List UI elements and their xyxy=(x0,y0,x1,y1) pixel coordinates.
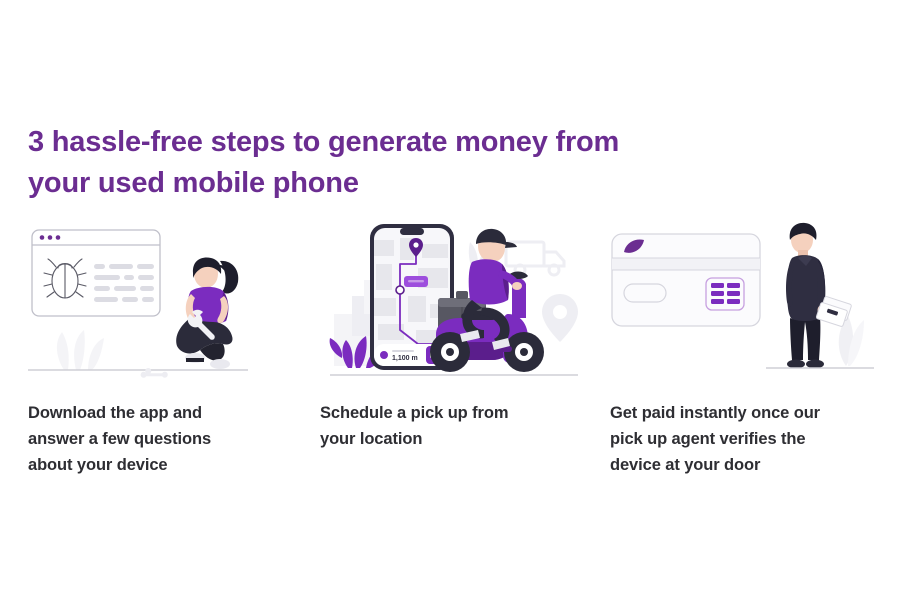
chip-icon xyxy=(706,278,744,310)
map-route-badge xyxy=(404,276,428,287)
window-dot-1 xyxy=(40,235,45,240)
step-3-caption-line-2: pick up agent verifies the xyxy=(610,426,878,452)
page-title-line-1: 3 hassle-free steps to generate money fr… xyxy=(28,122,708,163)
step-3-caption-line-3: device at your door xyxy=(610,452,878,478)
step-2-caption-line-2: your location xyxy=(320,426,588,452)
trousers xyxy=(790,318,820,360)
step-2-caption: Schedule a pick up from your location xyxy=(320,400,588,452)
woman-crouching-figure xyxy=(176,258,238,369)
step-card-2: 1,100 m xyxy=(312,218,602,508)
step-card-1: Download the app and answer a few questi… xyxy=(20,218,310,508)
window-dot-2 xyxy=(48,235,53,240)
step-3-caption-line-1: Get paid instantly once our xyxy=(610,400,878,426)
credit-card xyxy=(612,234,760,326)
illustration-bug-report xyxy=(20,218,300,383)
distance-value: 1,100 m xyxy=(392,355,418,362)
signature-box xyxy=(624,284,666,302)
shoe-right xyxy=(806,360,824,369)
step-card-3: Get paid instantly once our pick up agen… xyxy=(602,218,892,508)
page-title-line-2: your used mobile phone xyxy=(28,163,708,204)
scooter-wheel-front xyxy=(504,332,544,372)
background-leaf-icon xyxy=(57,330,104,370)
step-1-caption-line-2: answer a few questions xyxy=(28,426,296,452)
step-3-caption: Get paid instantly once our pick up agen… xyxy=(610,400,878,478)
step-1-caption-line-3: about your device xyxy=(28,452,296,478)
browser-window xyxy=(32,230,160,316)
shoe-2 xyxy=(210,359,230,369)
step-2-caption-line-1: Schedule a pick up from xyxy=(320,400,588,426)
distance-dot-icon xyxy=(380,351,388,359)
illustration-get-paid xyxy=(602,218,882,383)
page-title: 3 hassle-free steps to generate money fr… xyxy=(28,122,708,204)
window-dot-3 xyxy=(56,235,61,240)
shoe-left xyxy=(787,360,805,369)
illustration-scooter-pickup: 1,100 m xyxy=(312,218,592,383)
infographic-page: 3 hassle-free steps to generate money fr… xyxy=(0,0,900,600)
step-1-caption-line-1: Download the app and xyxy=(28,400,296,426)
steps-row: Download the app and answer a few questi… xyxy=(0,218,900,508)
phone-notch xyxy=(400,228,424,235)
map-pin-background-icon xyxy=(542,294,578,342)
route-waypoint xyxy=(396,286,404,294)
step-1-caption: Download the app and answer a few questi… xyxy=(28,400,296,478)
